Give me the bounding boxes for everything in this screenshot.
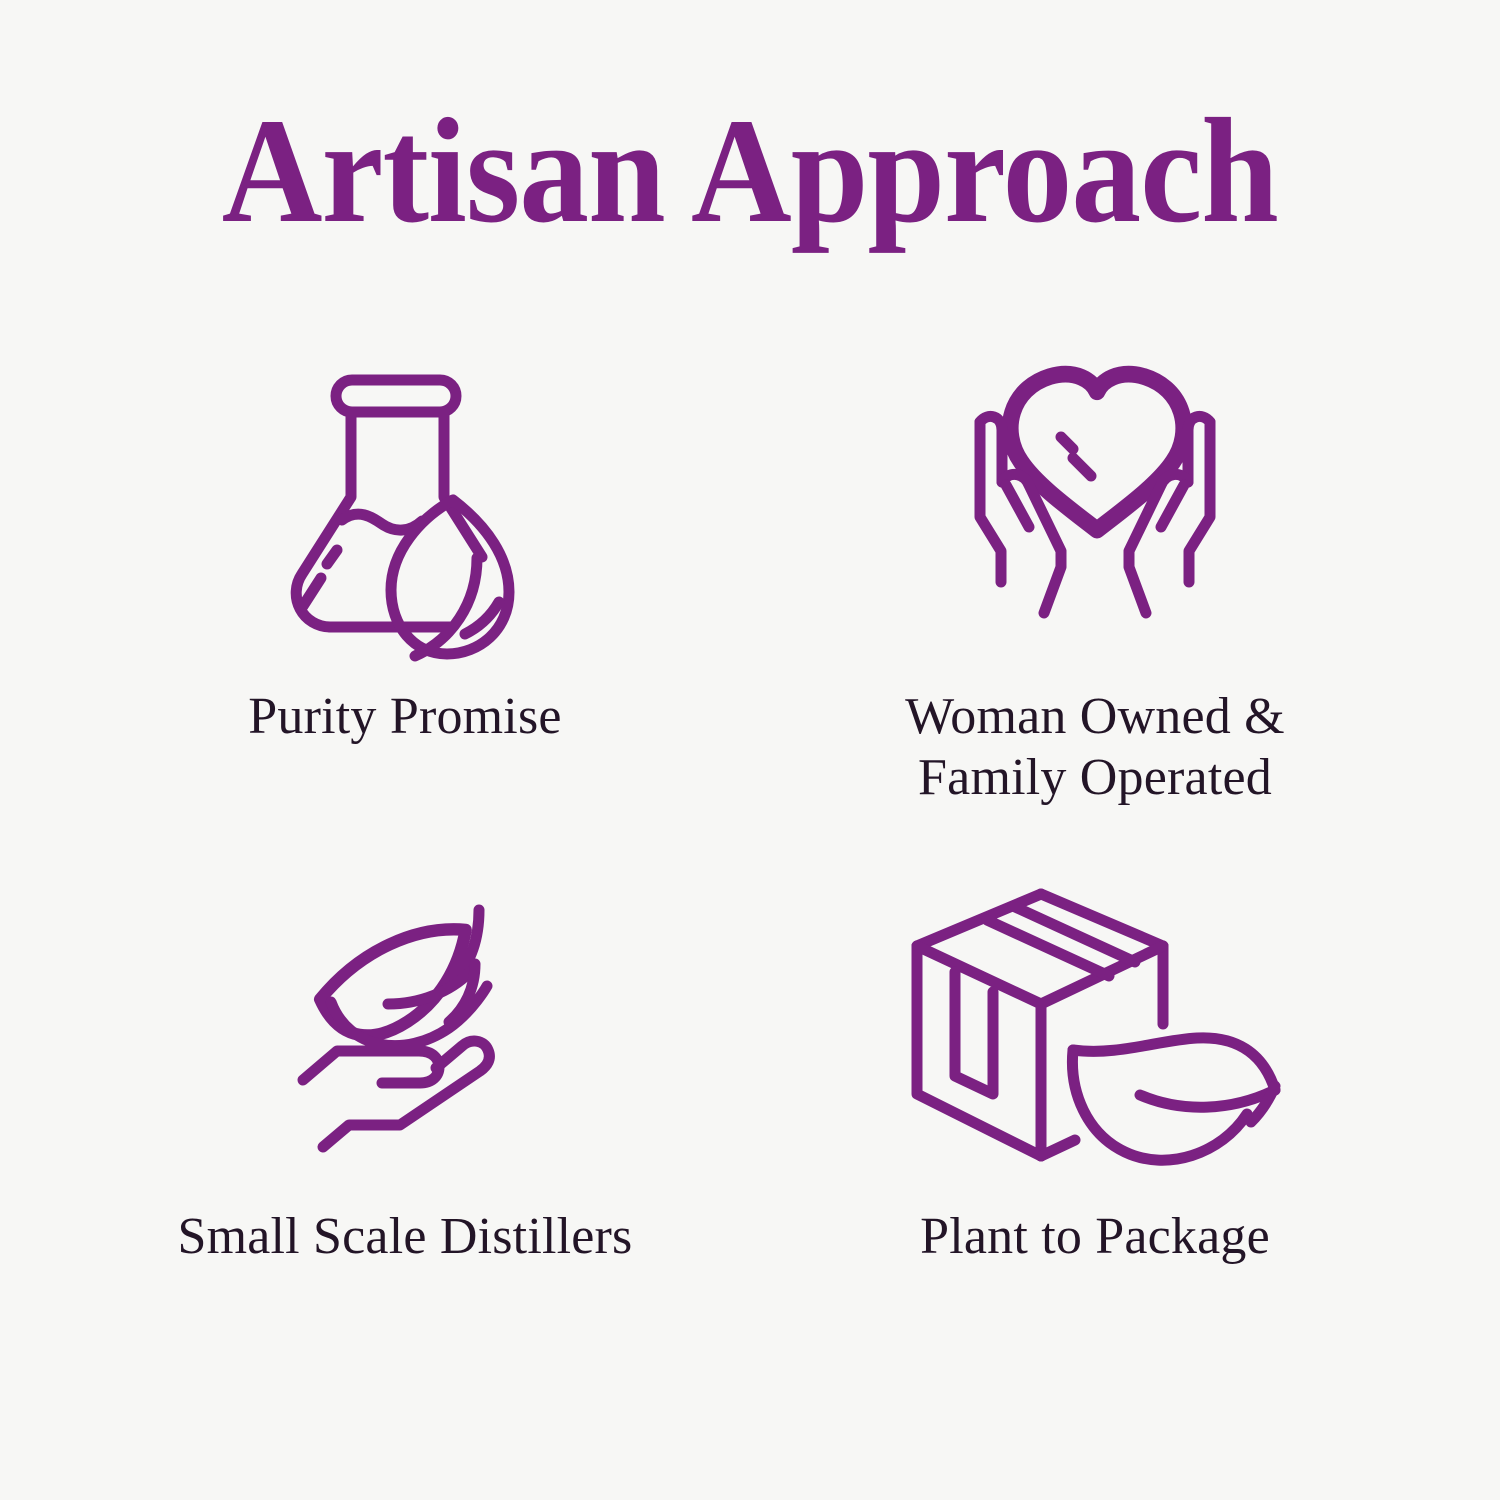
feature-icon-container xyxy=(895,880,1295,1170)
feature-item-woman-owned: Woman Owned & Family Operated xyxy=(750,350,1440,880)
feature-item-purity-promise: Purity Promise xyxy=(60,350,750,880)
feature-label: Purity Promise xyxy=(248,686,561,747)
leaf-in-hand-icon xyxy=(291,894,519,1156)
hands-holding-heart-icon xyxy=(945,376,1245,624)
page-title-container: Artisan Approach xyxy=(0,96,1500,246)
page-title: Artisan Approach xyxy=(222,96,1278,246)
artisan-approach-infographic: Artisan Approach xyxy=(0,0,1500,1500)
box-leaf-icon xyxy=(895,886,1295,1164)
feature-item-small-scale-distillers: Small Scale Distillers xyxy=(60,880,750,1410)
feature-item-plant-to-package: Plant to Package xyxy=(750,880,1440,1410)
flask-leaf-icon xyxy=(280,358,530,643)
feature-icon-container xyxy=(945,350,1245,650)
feature-label: Woman Owned & Family Operated xyxy=(905,686,1285,809)
feature-icon-container xyxy=(280,350,530,650)
feature-grid: Purity Promise xyxy=(60,350,1440,1410)
feature-label: Small Scale Distillers xyxy=(177,1206,632,1267)
feature-label: Plant to Package xyxy=(920,1206,1270,1267)
feature-icon-container xyxy=(291,880,519,1170)
